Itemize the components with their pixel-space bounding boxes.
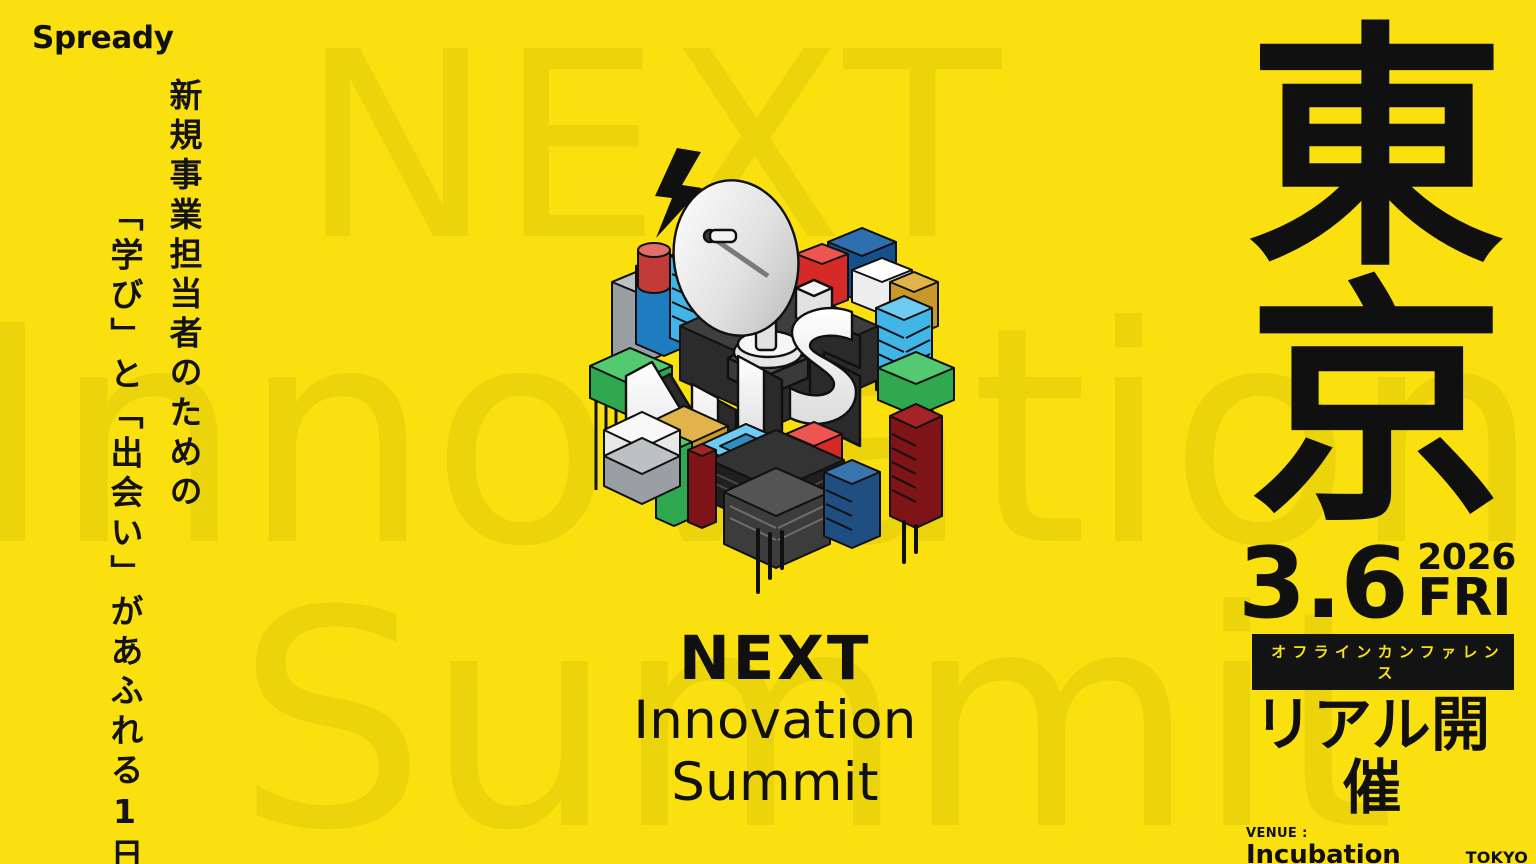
venue-name-row: Incubation CANVAS TOKYO (1246, 842, 1528, 864)
vertical-tagline: 新規事業担当者のための 「学び」と「出会い」があふれる1日 (108, 78, 200, 818)
event-city: 東京 (1224, 24, 1528, 535)
event-title: NEXT Innovation Summit (560, 628, 990, 813)
vertical-tagline-line-2: 「学び」と「出会い」があふれる1日 (108, 198, 141, 864)
event-title-line-2: Innovation (560, 690, 990, 751)
event-date-weekday: FRI (1417, 575, 1516, 623)
isometric-city-illustration (560, 130, 990, 600)
vertical-tagline-line-1: 新規事業担当者のための (167, 78, 200, 514)
event-title-line-1: NEXT (560, 628, 990, 690)
event-info-column: 東京 3.6 2026 FRI オフラインカンファレンス リアル開催 VENUE… (1228, 24, 1528, 864)
venue-block: VENUE : Incubation CANVAS TOKYO (1246, 826, 1528, 864)
brand-logo[interactable]: Spready (32, 20, 174, 56)
venue-city: TOKYO (1466, 848, 1528, 864)
venue-name: Incubation CANVAS (1246, 842, 1459, 864)
venue-label: VENUE : (1246, 826, 1528, 842)
conference-format-badge: オフラインカンファレンス (1252, 634, 1514, 690)
event-date: 3.6 2026 FRI (1226, 541, 1528, 627)
event-poster: NEXT Innovation Summit Spready 新規事業担当者のた… (0, 0, 1536, 864)
event-date-secondary: 2026 FRI (1417, 541, 1516, 627)
event-format-headline: リアル開催 (1228, 694, 1516, 819)
event-date-day: 3.6 (1238, 542, 1407, 626)
event-title-line-3: Summit (560, 752, 990, 813)
